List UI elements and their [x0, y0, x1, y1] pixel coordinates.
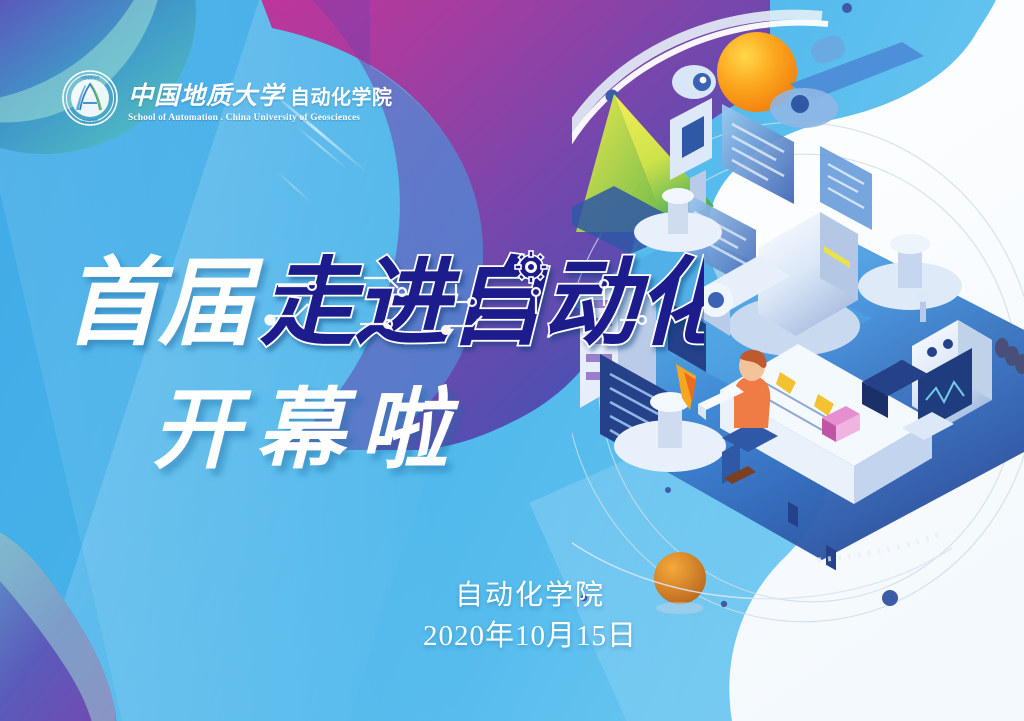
headline-line-2: 开幕啦 [150, 378, 590, 482]
footer-date: 2020年10月15日 [390, 618, 670, 656]
headline-line-1-art: 首届 走进自动化 [64, 244, 704, 362]
poster-canvas: 中国地质大学 自动化学院 中国地质大学 自动化学院 School of Auto… [0, 0, 1024, 721]
university-crest-icon: 中国地质大学 自动化学院 [62, 70, 118, 126]
footer-block: 自动化学院 2020年10月15日 [390, 578, 670, 656]
headline-white-text: 首届 [64, 250, 264, 357]
brand-chinese-line: 中国地质大学 自动化学院 [128, 76, 393, 112]
svg-text:自动化学院: 自动化学院 [82, 118, 99, 123]
robot-head-small [672, 65, 716, 99]
school-name: 自动化学院 [290, 81, 393, 110]
headline-line-2-art: 开幕啦 [150, 378, 590, 482]
svg-text:中国地质大学: 中国地质大学 [80, 75, 99, 80]
headline-line-1: 首届 走进自动化 [64, 244, 704, 362]
headline-line-2-text: 开幕啦 [152, 380, 464, 479]
gear-icon [515, 251, 547, 283]
bottom-left-blob [0, 513, 196, 721]
brand-logo-block: 中国地质大学 自动化学院 中国地质大学 自动化学院 School of Auto… [62, 70, 393, 126]
brand-english-line: School of Automation . China University … [128, 113, 393, 123]
footer-organizer: 自动化学院 [390, 578, 670, 614]
university-name: 中国地质大学 [128, 76, 284, 112]
headline-navy-text: 走进自动化 [259, 250, 704, 357]
